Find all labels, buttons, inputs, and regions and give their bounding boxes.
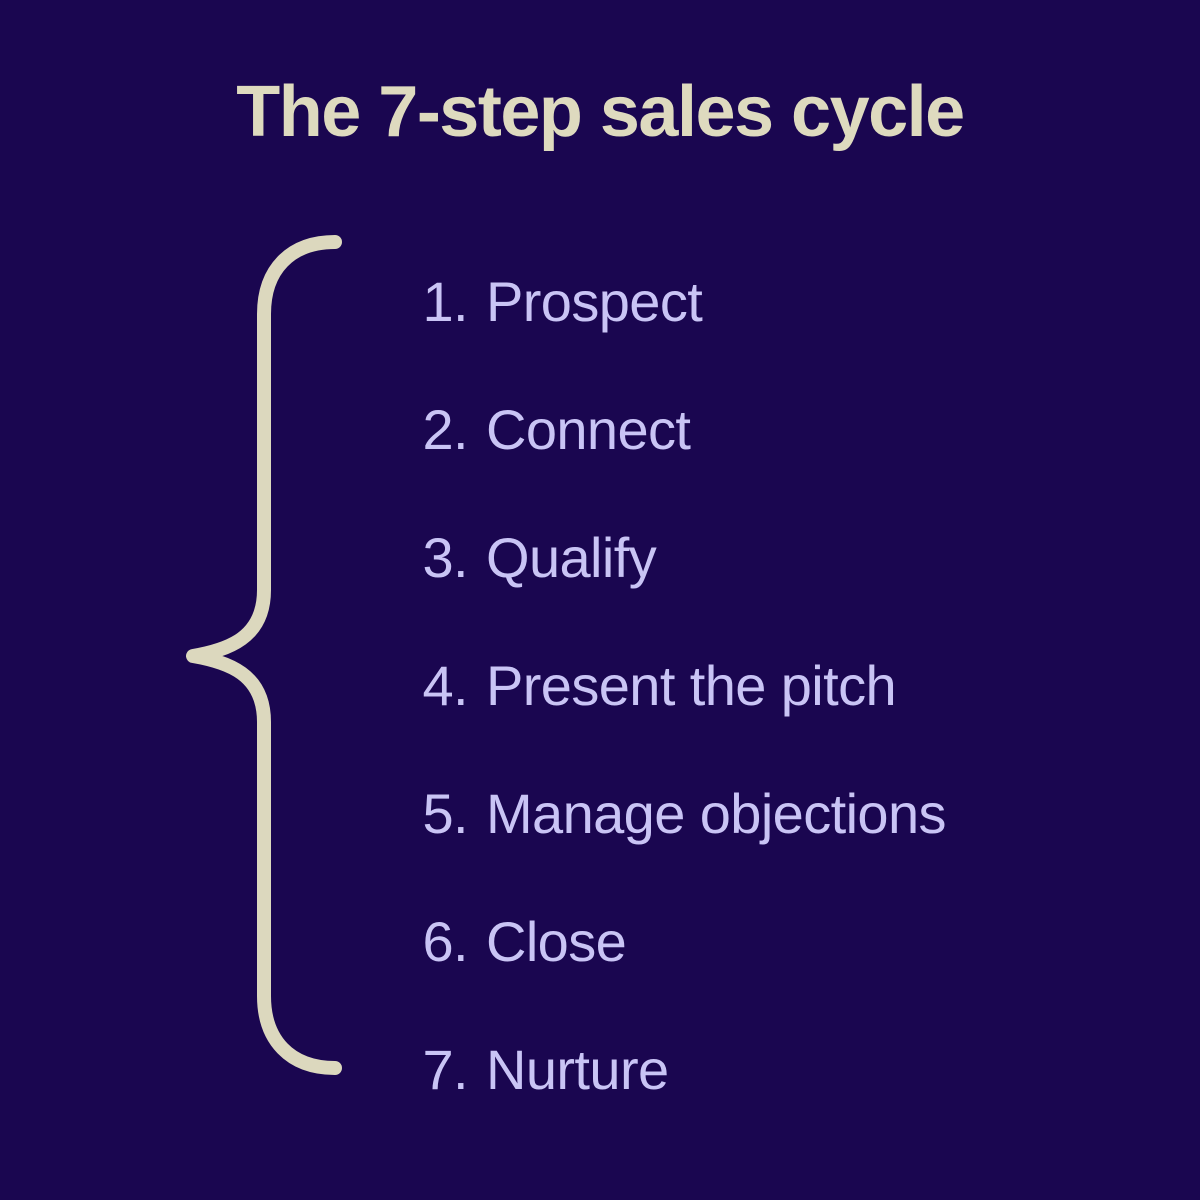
step-label: Connect — [486, 366, 690, 494]
step-label: Qualify — [486, 494, 656, 622]
step-number: 2. — [390, 366, 468, 494]
curly-brace-icon — [180, 230, 350, 1080]
list-item: 7. Nurture — [390, 1006, 1150, 1134]
slide-canvas: The 7-step sales cycle 1. Prospect 2. Co… — [0, 0, 1200, 1200]
step-number: 3. — [390, 494, 468, 622]
step-label: Present the pitch — [486, 622, 896, 750]
step-label: Nurture — [486, 1006, 669, 1134]
step-number: 4. — [390, 622, 468, 750]
list-item: 6. Close — [390, 878, 1150, 1006]
step-label: Prospect — [486, 238, 702, 366]
list-item: 3. Qualify — [390, 494, 1150, 622]
step-number: 6. — [390, 878, 468, 1006]
list-item: 4. Present the pitch — [390, 622, 1150, 750]
sales-cycle-step-list: 1. Prospect 2. Connect 3. Qualify 4. Pre… — [390, 238, 1150, 1134]
list-item: 5. Manage objections — [390, 750, 1150, 878]
step-number: 7. — [390, 1006, 468, 1134]
step-label: Manage objections — [486, 750, 946, 878]
step-label: Close — [486, 878, 626, 1006]
list-item: 1. Prospect — [390, 238, 1150, 366]
list-item: 2. Connect — [390, 366, 1150, 494]
page-title: The 7-step sales cycle — [0, 76, 1200, 148]
step-number: 5. — [390, 750, 468, 878]
step-number: 1. — [390, 238, 468, 366]
